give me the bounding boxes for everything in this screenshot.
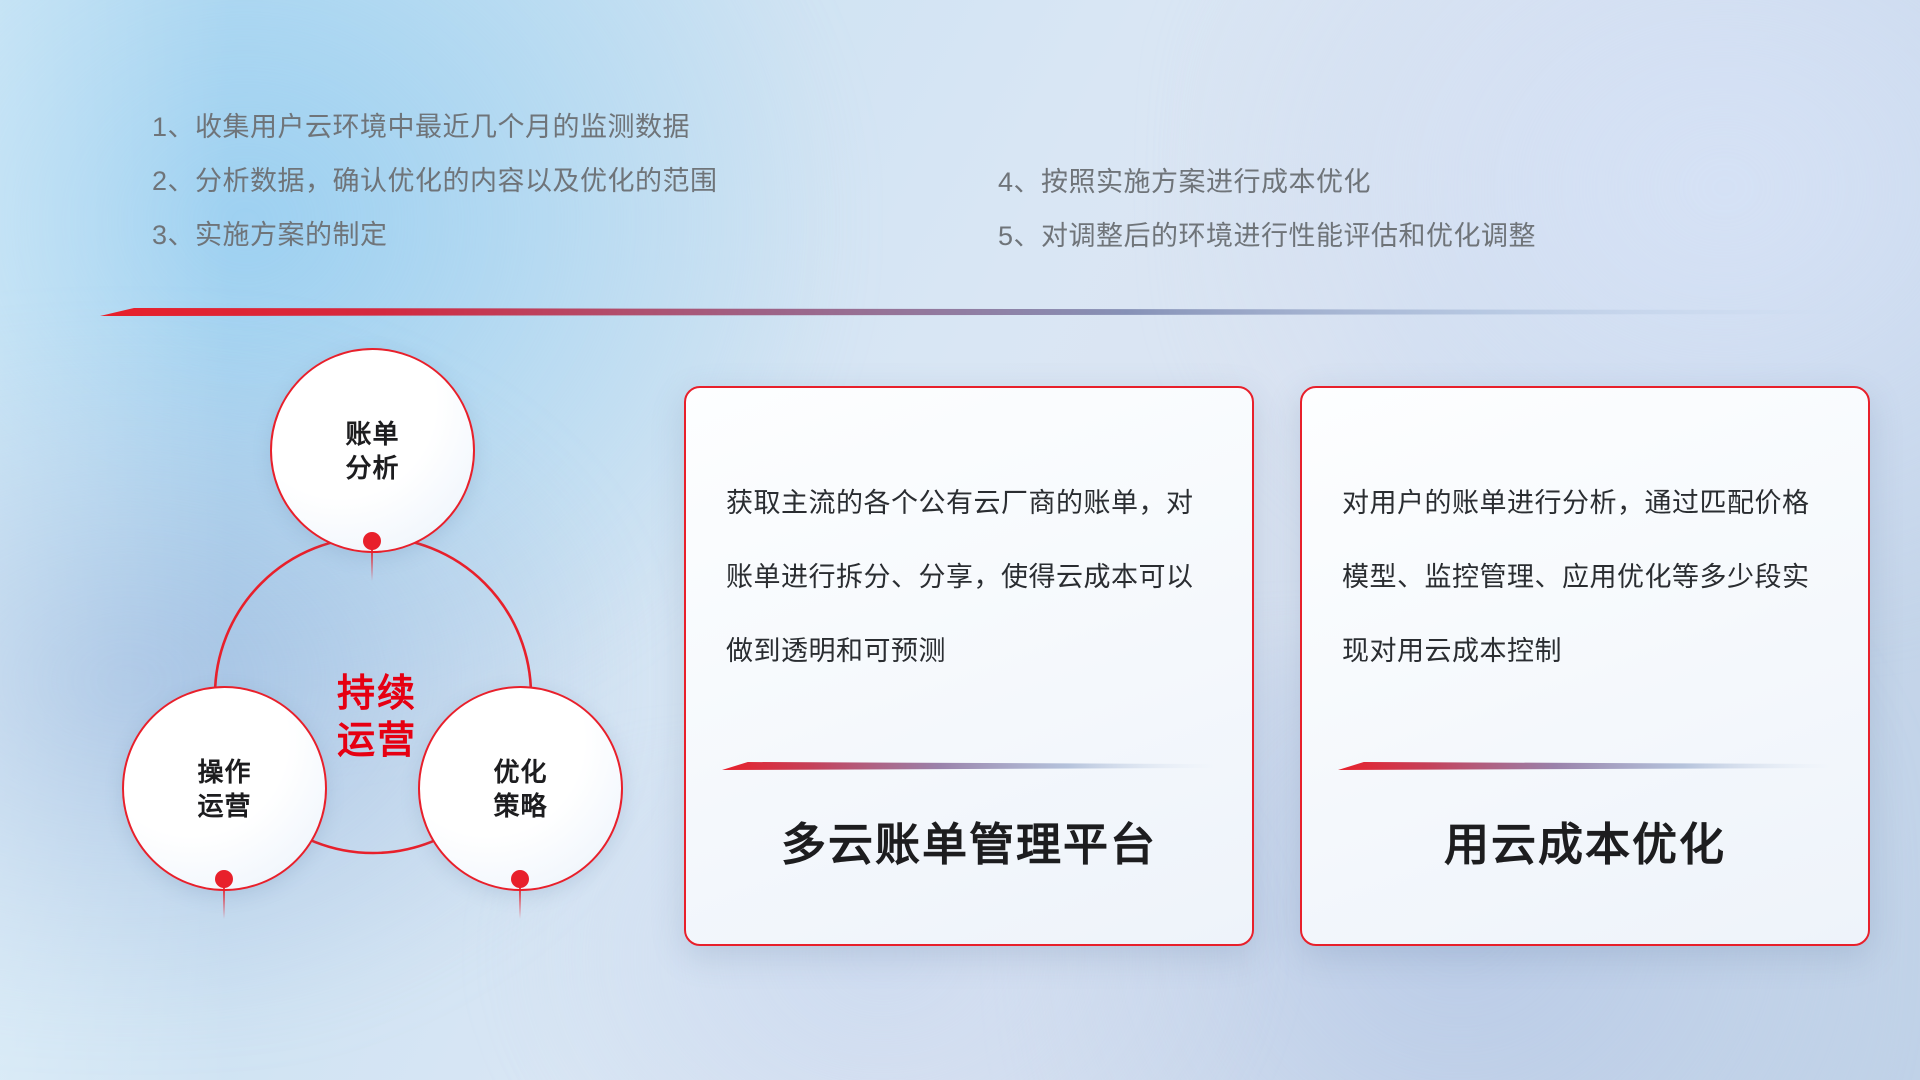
venn-pin-top-icon [363,532,381,550]
section-divider [100,305,1872,321]
venn-pin-right-tail [519,885,521,919]
venn-bubble-optimize-policy-line2: 策略 [493,789,547,823]
step-item-2: 2、分析数据，确认优化的内容以及优化的范围 [152,154,718,208]
card-multi-cloud-bill-platform-rule [722,760,1216,774]
venn-pin-top-tail [371,547,373,581]
venn-bubble-bill-analysis[interactable]: 账单 分析 [270,348,475,553]
venn-pin-left-tail [223,885,225,919]
venn-bubble-ops-operation-line1: 操作 [197,755,251,789]
continuous-operation-diagram: 持续 运营 账单 分析 操作 运营 优化 策略 [100,350,660,950]
card-cloud-cost-optimization-body: 对用户的账单进行分析，通过匹配价格模型、监控管理、应用优化等多少段实现对用云成本… [1342,466,1834,688]
card-multi-cloud-bill-platform[interactable]: 获取主流的各个公有云厂商的账单，对账单进行拆分、分享，使得云成本可以做到透明和可… [684,386,1254,946]
step-item-4: 4、按照实施方案进行成本优化 [998,155,1536,209]
card-cloud-cost-optimization-title: 用云成本优化 [1302,808,1868,873]
card-multi-cloud-bill-platform-title: 多云账单管理平台 [686,808,1252,873]
divider-shape-icon [100,305,1872,321]
slide-content: 1、收集用户云环境中最近几个月的监测数据 2、分析数据，确认优化的内容以及优化的… [0,0,1920,1080]
steps-left-column: 1、收集用户云环境中最近几个月的监测数据 2、分析数据，确认优化的内容以及优化的… [152,100,718,262]
step-item-1: 1、收集用户云环境中最近几个月的监测数据 [152,100,718,154]
venn-pin-left-icon [215,870,233,888]
venn-pin-right-icon [511,870,529,888]
card-rule-shape-icon [1338,760,1832,774]
card-cloud-cost-optimization-rule [1338,760,1832,774]
venn-bubble-ops-operation[interactable]: 操作 运营 [122,686,327,891]
card-multi-cloud-bill-platform-body: 获取主流的各个公有云厂商的账单，对账单进行拆分、分享，使得云成本可以做到透明和可… [726,466,1218,688]
step-item-3: 3、实施方案的制定 [152,208,718,262]
venn-bubble-optimize-policy[interactable]: 优化 策略 [418,686,623,891]
steps-right-column: 4、按照实施方案进行成本优化 5、对调整后的环境进行性能评估和优化调整 [998,155,1536,263]
venn-bubble-bill-analysis-line2: 分析 [345,451,399,485]
venn-bubble-optimize-policy-line1: 优化 [493,755,547,789]
card-rule-shape-icon [722,760,1216,774]
venn-bubble-ops-operation-line2: 运营 [197,789,251,823]
venn-bubble-bill-analysis-line1: 账单 [345,417,399,451]
card-cloud-cost-optimization[interactable]: 对用户的账单进行分析，通过匹配价格模型、监控管理、应用优化等多少段实现对用云成本… [1300,386,1870,946]
step-item-5: 5、对调整后的环境进行性能评估和优化调整 [998,209,1536,263]
